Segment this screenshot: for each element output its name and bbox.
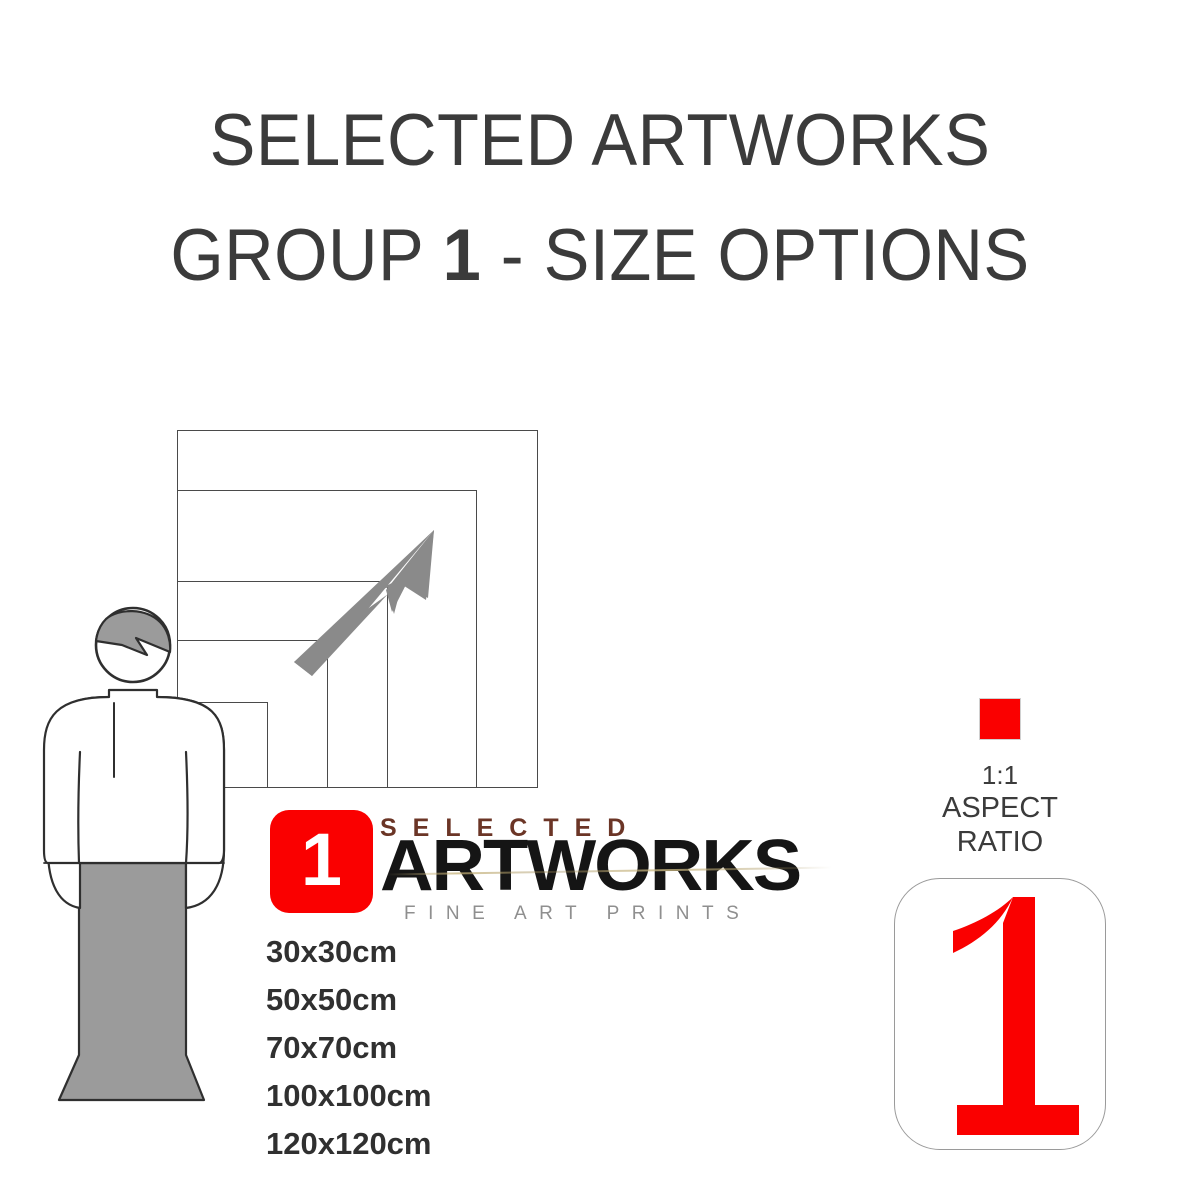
aspect-ratio-value: 1:1: [900, 760, 1100, 791]
growth-arrow-icon: [290, 520, 470, 680]
group-number-badge: 1: [270, 810, 373, 913]
group-number-card: [894, 878, 1106, 1150]
selected-artworks-logo: SELECTED ARTWORKS FINE ART PRINTS: [380, 812, 850, 922]
logo-word-artworks: ARTWORKS: [380, 830, 864, 902]
title-group-number: 1: [443, 215, 482, 296]
page-title: SELECTED ARTWORKS GROUP 1 - SIZE OPTIONS: [0, 104, 1200, 292]
aspect-ratio-label-line1: ASPECT: [900, 791, 1100, 825]
logo-tagline-fine-art-prints: FINE ART PRINTS: [404, 904, 751, 923]
aspect-ratio-label-line2: RATIO: [900, 825, 1100, 859]
group-number-glyph: [895, 879, 1106, 1150]
aspect-ratio-swatch-icon: [979, 698, 1021, 740]
figure-torso: [44, 690, 224, 863]
size-option-3: 70x70cm: [266, 1032, 686, 1063]
title-line-2-suffix: - SIZE OPTIONS: [481, 215, 1029, 296]
brand-row: 1 SELECTED ARTWORKS FINE ART PRINTS: [270, 810, 850, 922]
size-option-4: 100x100cm: [266, 1080, 686, 1111]
aspect-ratio-panel: 1:1 ASPECT RATIO: [900, 698, 1100, 859]
size-option-1: 30x30cm: [266, 936, 686, 967]
scale-person-figure: [34, 600, 264, 1160]
title-line-2-prefix: GROUP: [170, 215, 442, 296]
poster-canvas: SELECTED ARTWORKS GROUP 1 - SIZE OPTIONS: [0, 0, 1200, 1200]
size-options-list: 30x30cm 50x50cm 70x70cm 100x100cm 120x12…: [266, 936, 686, 1176]
title-line-2: GROUP 1 - SIZE OPTIONS: [36, 219, 1164, 292]
title-line-1: SELECTED ARTWORKS: [36, 104, 1164, 177]
size-option-2: 50x50cm: [266, 984, 686, 1015]
size-option-5: 120x120cm: [266, 1128, 686, 1159]
